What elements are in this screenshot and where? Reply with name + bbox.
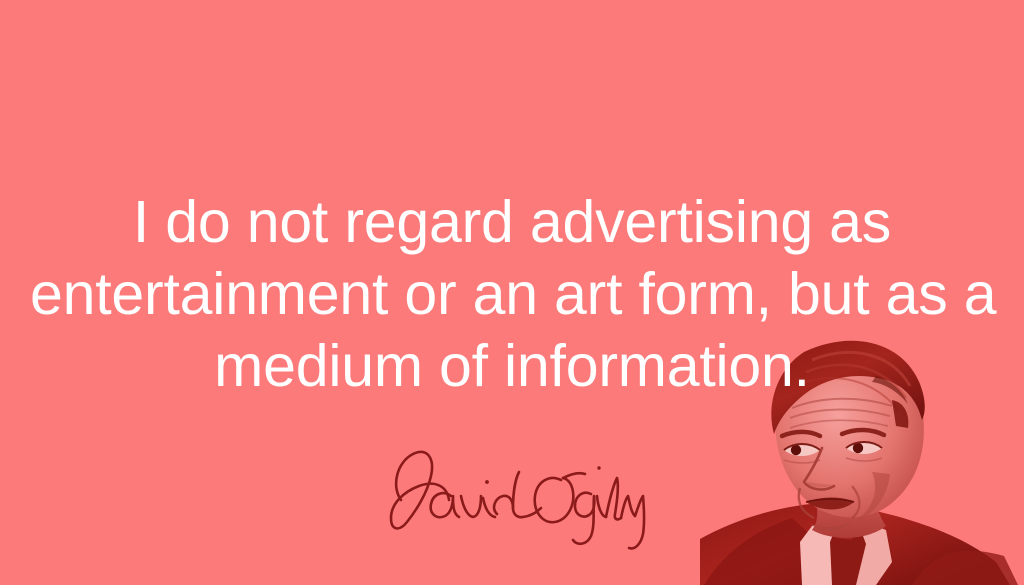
quote-line-2: entertainment or an art form, but as a: [30, 258, 994, 330]
signature-david-ogilvy: [385, 438, 655, 558]
quote-line-1: I do not regard advertising as: [30, 186, 994, 258]
quote-card: I do not regard advertising as entertain…: [0, 0, 1024, 585]
portrait-photo: [700, 330, 1024, 585]
